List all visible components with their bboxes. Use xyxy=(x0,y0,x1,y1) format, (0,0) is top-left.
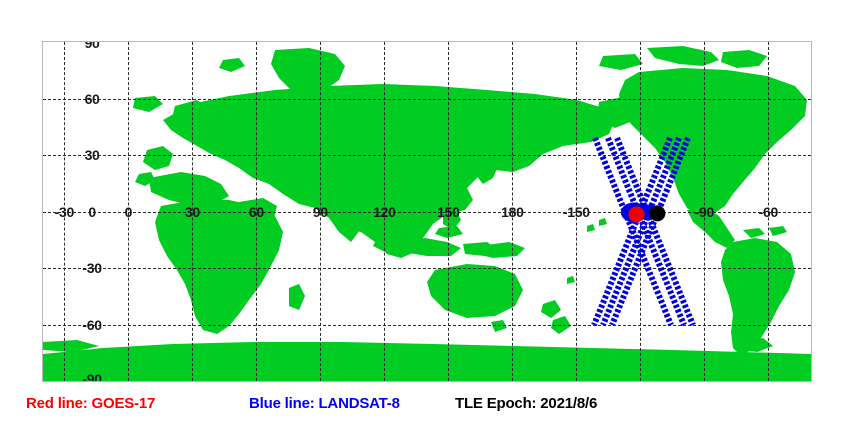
lon-tick-label-30: 30 xyxy=(185,205,200,219)
lon-tick-label-0: 0 xyxy=(125,205,133,219)
lat-tick-label--30: -30 xyxy=(82,261,101,275)
lon-tick-label--60: -60 xyxy=(759,205,778,219)
legend-red-line-goes: Red line: GOES-17 xyxy=(26,392,155,416)
lat-tick-label--60: -60 xyxy=(82,318,101,332)
lat-tick-label-90: 90 xyxy=(85,41,100,50)
lat-tick-label-0: 0 xyxy=(88,205,96,219)
lon-tick-label--30: -30 xyxy=(55,205,74,219)
lon-tick-label--90: -90 xyxy=(695,205,714,219)
legend: Red line: GOES-17 Blue line: LANDSAT-8 T… xyxy=(0,392,850,419)
lon-tick-label--150: -150 xyxy=(563,205,590,219)
lon-tick-label-60: 60 xyxy=(249,205,264,219)
legend-tle-epoch: TLE Epoch: 2021/8/6 xyxy=(455,392,597,416)
satellite-ground-track-view: -300306090120150180-150-120-90-609060300… xyxy=(0,0,850,425)
lon-tick-label--120: -120 xyxy=(627,205,654,219)
lon-tick-label-150: 150 xyxy=(437,205,459,219)
lat-tick-label-30: 30 xyxy=(85,148,100,162)
lon-tick-label-90: 90 xyxy=(313,205,328,219)
lon-tick-label-180: 180 xyxy=(501,205,523,219)
lat-tick-label-60: 60 xyxy=(85,92,100,106)
legend-blue-line-landsat: Blue line: LANDSAT-8 xyxy=(249,392,400,416)
lat-tick-label--90: -90 xyxy=(82,372,101,382)
lon-tick-label-120: 120 xyxy=(373,205,395,219)
world-map-frame: -300306090120150180-150-120-90-609060300… xyxy=(42,41,812,382)
